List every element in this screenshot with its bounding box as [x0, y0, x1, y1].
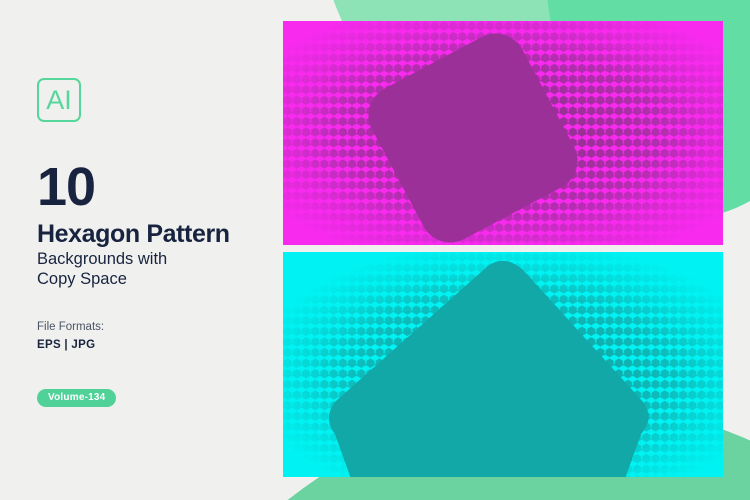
- page-subtitle: Backgrounds with Copy Space: [37, 249, 167, 289]
- magenta-hexagon-preview: [283, 21, 723, 245]
- cyan-hexagon-preview: [283, 252, 723, 477]
- volume-badge-label: Volume-134: [48, 393, 105, 403]
- file-formats-label: File Formats:: [37, 322, 104, 334]
- info-column: AI 10 Hexagon Pattern Backgrounds with C…: [37, 0, 267, 500]
- page-subtitle-line-2: Copy Space: [37, 269, 167, 289]
- adobe-illustrator-badge-icon: AI: [37, 78, 81, 122]
- file-formats-value: EPS | JPG: [37, 340, 95, 352]
- item-count: 10: [37, 160, 95, 214]
- page-subtitle-line-1: Backgrounds with: [37, 249, 167, 269]
- volume-badge: Volume-134: [37, 389, 116, 407]
- magenta-preview-graphic: [283, 21, 723, 245]
- poster-canvas: AI 10 Hexagon Pattern Backgrounds with C…: [0, 0, 750, 500]
- cyan-preview-graphic: [283, 252, 723, 477]
- page-title: Hexagon Pattern: [37, 222, 230, 247]
- adobe-illustrator-badge-label: AI: [46, 87, 72, 114]
